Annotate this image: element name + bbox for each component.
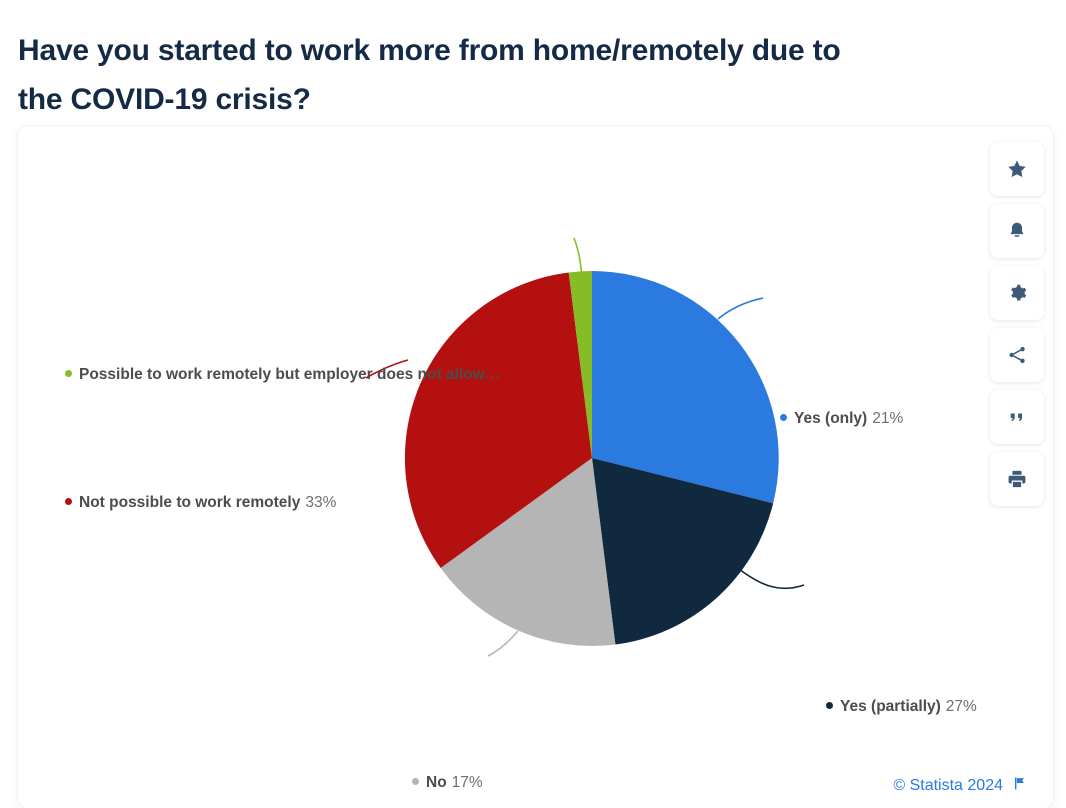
print-icon bbox=[1006, 468, 1028, 490]
leader-line-navy bbox=[735, 566, 804, 588]
legend-dot-navy bbox=[826, 702, 833, 709]
pie-label-no[interactable]: No17% bbox=[412, 775, 483, 791]
leader-line-green bbox=[574, 238, 582, 276]
chart-card: Possible to work remotely but employer d… bbox=[18, 126, 1053, 808]
page-title: Have you started to work more from home/… bbox=[18, 26, 1063, 124]
footer: © Statista 2024 bbox=[893, 776, 1027, 796]
favorite-button[interactable] bbox=[990, 142, 1044, 196]
legend-dot-gray bbox=[412, 778, 419, 785]
pie-label-value: 27% bbox=[946, 698, 977, 715]
pie-label-value: 21% bbox=[872, 410, 903, 427]
pie-label-value: 33% bbox=[305, 494, 336, 511]
chart-toolbar bbox=[990, 142, 1046, 506]
flag-icon[interactable] bbox=[1012, 776, 1027, 796]
notify-button[interactable] bbox=[990, 204, 1044, 258]
settings-button[interactable] bbox=[990, 266, 1044, 320]
pie-label-text: Yes (only) bbox=[794, 410, 867, 427]
pie-label-text: Yes (partially) bbox=[840, 698, 941, 715]
legend-dot-red bbox=[65, 498, 72, 505]
pie-label-text: No bbox=[426, 774, 447, 791]
chart-page: Have you started to work more from home/… bbox=[0, 0, 1066, 808]
bell-icon bbox=[1006, 220, 1028, 242]
pie-label-not-possible[interactable]: Not possible to work remotely33% bbox=[65, 495, 336, 511]
leader-line-blue bbox=[718, 298, 763, 319]
pie-label-value: 17% bbox=[452, 774, 483, 791]
print-button[interactable] bbox=[990, 452, 1044, 506]
pie-chart: Possible to work remotely but employer d… bbox=[18, 126, 1053, 808]
copyright-text: © Statista 2024 bbox=[893, 777, 1003, 795]
star-icon bbox=[1006, 158, 1028, 180]
legend-dot-green bbox=[65, 370, 72, 377]
pie-label-yes-only[interactable]: Yes (only)21% bbox=[780, 411, 903, 427]
pie-label-text: Not possible to work remotely bbox=[79, 494, 300, 511]
quote-icon bbox=[1006, 406, 1028, 428]
share-button[interactable] bbox=[990, 328, 1044, 382]
pie-label-yes-partially[interactable]: Yes (partially)27% bbox=[826, 699, 977, 715]
cite-button[interactable] bbox=[990, 390, 1044, 444]
leader-line-gray bbox=[488, 631, 518, 656]
pie-label-possible-not-allowed[interactable]: Possible to work remotely but employer d… bbox=[65, 367, 505, 383]
share-icon bbox=[1006, 344, 1028, 366]
pie-label-text: Possible to work remotely but employer d… bbox=[79, 366, 500, 383]
chart-card-background: Possible to work remotely but employer d… bbox=[18, 126, 1053, 808]
gear-icon bbox=[1006, 282, 1028, 304]
legend-dot-blue bbox=[780, 414, 787, 421]
